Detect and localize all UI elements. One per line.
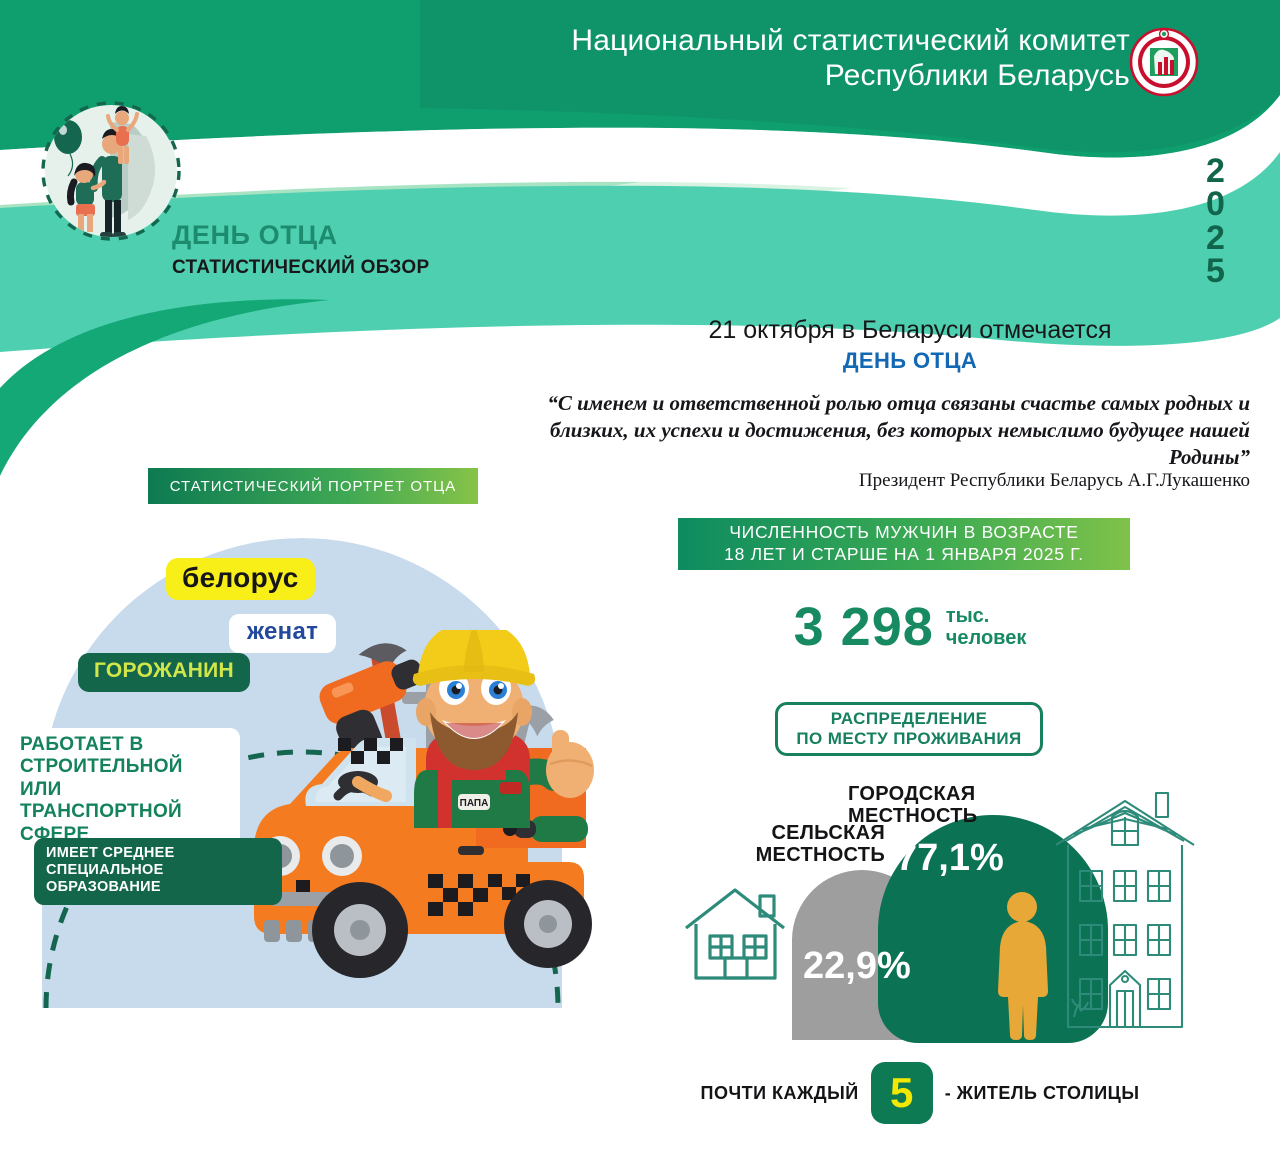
footer-text-before: ПОЧТИ КАЖДЫЙ <box>701 1083 859 1104</box>
rural-value: 22,9% <box>803 945 911 988</box>
person-silhouette-icon <box>990 890 1054 1040</box>
population-unit-line1: тыс. <box>946 605 1027 627</box>
year-digit-1: 2 <box>1206 155 1225 188</box>
intro-line-2: ДЕНЬ ОТЦА <box>560 348 1260 374</box>
year-2025: 2 0 2 5 <box>1206 155 1225 288</box>
brand-text-block: ДЕНЬ ОТЦА СТАТИСТИЧЕСКИЙ ОБЗОР <box>172 222 429 277</box>
rural-house-icon <box>680 880 795 985</box>
distribution-pill-line2: ПО МЕСТУ ПРОЖИВАНИЯ <box>796 729 1021 749</box>
population-banner-line1: ЧИСЛЕННОСТЬ МУЖЧИН В ВОЗРАСТЕ <box>729 522 1078 544</box>
worker-in-orange-taxi-truck-illustration: ПАПА <box>230 630 620 1010</box>
badge-zhenat: женат <box>229 614 336 653</box>
population-banner-line2: 18 ЛЕТ И СТАРШЕ НА 1 ЯНВАРЯ 2025 Г. <box>724 544 1084 566</box>
statistical-portrait-panel: СТАТИСТИЧЕСКИЙ ПОРТРЕТ ОТЦА <box>0 460 620 1020</box>
president-quote: “С именем и ответственной ролью отца свя… <box>510 390 1250 471</box>
urban-label: ГОРОДСКАЯ МЕСТНОСТЬ <box>848 783 1038 827</box>
population-unit-line2: человек <box>946 627 1027 649</box>
urban-building-icon <box>1050 785 1200 1035</box>
footer-number: 5 <box>890 1069 913 1117</box>
rural-label-line2: МЕСТНОСТЬ <box>720 844 885 866</box>
badge-belorus: белорус <box>166 558 315 600</box>
father-with-children-illustration <box>36 96 186 246</box>
urban-label-line2: МЕСТНОСТЬ <box>848 805 1038 827</box>
population-value: 3 298 <box>794 600 934 654</box>
distribution-pill-line1: РАСПРЕДЕЛЕНИЕ <box>831 709 988 729</box>
portrait-heading: СТАТИСТИЧЕСКИЙ ПОРТРЕТ ОТЦА <box>148 468 478 504</box>
year-digit-2: 0 <box>1206 188 1225 221</box>
capital-footer: ПОЧТИ КАЖДЫЙ 5 - ЖИТЕЛЬ СТОЛИЦЫ <box>660 1058 1180 1128</box>
infographic-canvas: Национальный статистический комитет Респ… <box>0 0 1280 1150</box>
badge-rabotaet: РАБОТАЕТ В СТРОИТЕЛЬНОЙ ИЛИ ТРАНСПОРТНОЙ… <box>8 728 240 854</box>
footer-number-box: 5 <box>871 1062 933 1124</box>
year-digit-3: 2 <box>1206 222 1225 255</box>
urban-value: 77,1% <box>896 837 1004 880</box>
header-title-line1: Национальный статистический комитет <box>571 24 1130 57</box>
population-banner: ЧИСЛЕННОСТЬ МУЖЧИН В ВОЗРАСТЕ 18 ЛЕТ И С… <box>678 518 1130 570</box>
rural-label: СЕЛЬСКАЯ МЕСТНОСТЬ <box>720 822 885 866</box>
badge-gorozhanin: ГОРОЖАНИН <box>78 653 250 692</box>
page-subtitle: СТАТИСТИЧЕСКИЙ ОБЗОР <box>172 258 429 277</box>
population-unit: тыс. человек <box>946 605 1027 650</box>
header-title-line2: Республики Беларусь <box>430 59 1130 94</box>
distribution-chart: СЕЛЬСКАЯ МЕСТНОСТЬ ГОРОДСКАЯ МЕСТНОСТЬ 2… <box>670 775 1210 1040</box>
footer-text-after: - ЖИТЕЛЬ СТОЛИЦЫ <box>945 1083 1140 1104</box>
header-title: Национальный статистический комитет Респ… <box>430 24 1130 94</box>
year-digit-4: 5 <box>1206 255 1225 288</box>
population-value-row: 3 298 тыс. человек <box>700 600 1120 654</box>
distribution-pill: РАСПРЕДЕЛЕНИЕ ПО МЕСТУ ПРОЖИВАНИЯ <box>775 702 1043 756</box>
intro-line-1: 21 октября в Беларуси отмечается <box>560 316 1260 345</box>
badge-obrazovanie: ИМЕЕТ СРЕДНЕЕ СПЕЦИАЛЬНОЕ ОБРАЗОВАНИЕ <box>34 838 282 905</box>
page-title: ДЕНЬ ОТЦА <box>172 222 429 249</box>
worker-badge-text: ПАПА <box>460 798 489 809</box>
quote-author: Президент Республики Беларусь А.Г.Лукаше… <box>510 470 1250 492</box>
belarus-statistics-emblem-icon <box>1128 26 1200 98</box>
urban-label-line1: ГОРОДСКАЯ <box>848 783 1038 805</box>
